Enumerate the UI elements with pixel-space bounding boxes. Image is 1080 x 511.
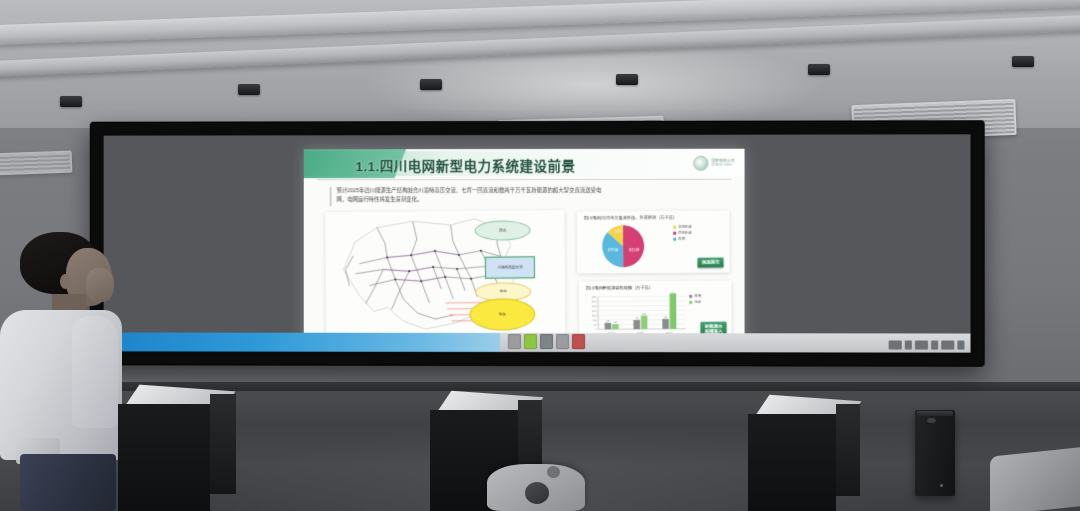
hvac-vent-icon xyxy=(0,151,72,176)
presenter-trousers xyxy=(20,454,116,511)
svg-text:800: 800 xyxy=(593,320,597,322)
tray-show-desktop-icon[interactable] xyxy=(957,341,964,350)
header-rule xyxy=(317,179,731,180)
floor-standing-speaker xyxy=(915,410,955,496)
ceiling-spot-icon xyxy=(60,96,82,107)
speaker-knob-icon xyxy=(927,418,936,423)
svg-text:6700: 6700 xyxy=(608,247,619,252)
svg-text:1200: 1200 xyxy=(614,228,624,233)
pedestal-front xyxy=(748,414,836,511)
legend-label: 负荷 xyxy=(678,236,685,242)
ceiling-spot-icon xyxy=(238,84,260,95)
lead-line-1: 预计2025年四川能源生产结构融合川渝特高压交流、七背一回直流和数两千万千瓦新能… xyxy=(337,187,727,197)
presenter-hand xyxy=(86,268,114,302)
logo-name-en: STATE GRID xyxy=(712,163,735,166)
svg-text:1150: 1150 xyxy=(642,313,646,315)
presenter-arm xyxy=(72,316,118,428)
legend-swatch-icon xyxy=(689,295,692,298)
tray-network-icon[interactable] xyxy=(889,340,902,349)
taskbar-app-1[interactable] xyxy=(508,334,521,349)
tray-clock-icon[interactable] xyxy=(941,341,954,350)
pie-chart-badge: 强直弱交 xyxy=(698,258,724,268)
bar-chart-legend: 风电 光伏 xyxy=(689,294,701,306)
display-panel[interactable]: 1.1.四川电网新型电力系统建设前景 国家电网公司 STATE GRID 预计2… xyxy=(104,134,971,352)
foreground-object-right xyxy=(990,447,1080,511)
callout-box-chongqing: 川渝特高压交流 xyxy=(485,256,535,278)
pedestal-front xyxy=(118,404,210,511)
taskbar-app-buttons[interactable] xyxy=(508,334,585,349)
tray-ime-icon[interactable] xyxy=(931,341,938,350)
ceiling-spot-icon xyxy=(1012,56,1034,67)
taskbar-app-5[interactable] xyxy=(572,334,585,349)
presenter-ear xyxy=(60,274,71,289)
speaker-top-cap xyxy=(917,411,953,416)
conference-room-photo: 1.1.四川电网新型电力系统建设前景 国家电网公司 STATE GRID 预计2… xyxy=(0,0,1080,511)
ceiling-spot-icon xyxy=(616,74,638,85)
svg-text:1200: 1200 xyxy=(592,315,598,317)
ceiling-spot-icon xyxy=(808,64,830,75)
pie-chart-card[interactable]: 四川电网2025年交直流外送、负荷预测（万千瓦） 1200 8100 6700 … xyxy=(577,210,730,273)
legend-swatch-icon xyxy=(673,226,676,229)
tray-volume-icon[interactable] xyxy=(905,340,912,349)
pie-chart-icon: 1200 8100 6700 xyxy=(593,223,653,269)
legend-swatch-icon xyxy=(689,301,692,304)
wall-display[interactable]: 1.1.四川电网新型电力系统建设前景 国家电网公司 STATE GRID 预计2… xyxy=(91,121,984,365)
svg-text:430: 430 xyxy=(614,322,617,324)
legend-label: 光伏 xyxy=(694,300,701,306)
ceiling xyxy=(0,0,1080,128)
taskbar-app-powerpoint[interactable] xyxy=(524,334,537,349)
gray-equipment-case xyxy=(487,464,585,511)
svg-text:0: 0 xyxy=(596,329,598,331)
state-grid-logo-icon xyxy=(694,156,709,171)
grid-map-card[interactable]: 西北 川渝特高压交流 华中 华东 xyxy=(325,210,565,338)
taskbar-app-4[interactable] xyxy=(556,334,569,349)
windows-taskbar[interactable] xyxy=(104,332,971,352)
pie-chart-title: 四川电网2025年交直流外送、负荷预测（万千瓦） xyxy=(584,215,677,222)
svg-text:560: 560 xyxy=(606,320,609,322)
svg-text:2800: 2800 xyxy=(592,297,598,299)
legend-swatch-icon xyxy=(673,238,676,241)
svg-text:860: 860 xyxy=(664,317,667,319)
legend-swatch-icon xyxy=(673,232,676,235)
svg-text:8100: 8100 xyxy=(629,247,640,252)
svg-text:2000: 2000 xyxy=(592,306,598,308)
system-tray[interactable] xyxy=(889,340,965,349)
pie-chart-legend: 交流外送 直流外送 负荷 xyxy=(673,225,692,243)
slide-lead-text: 预计2025年四川能源生产结构融合川渝特高压交流、七背一回直流和数两千万千瓦新能… xyxy=(330,187,727,206)
speaker-led-icon xyxy=(940,484,943,487)
case-handle-hole xyxy=(525,482,549,504)
bar-chart-icon: 0400 8001200 16002000 24002800 xyxy=(585,292,690,337)
powerpoint-window[interactable]: 1.1.四川电网新型电力系统建设前景 国家电网公司 STATE GRID 预计2… xyxy=(304,149,745,352)
legend-item: 光伏 xyxy=(689,300,701,306)
pedestal-side xyxy=(836,404,860,496)
ceiling-spot-icon xyxy=(420,79,442,90)
svg-text:3050: 3050 xyxy=(671,292,675,294)
svg-text:2400: 2400 xyxy=(592,301,598,303)
svg-text:1600: 1600 xyxy=(592,311,598,313)
tray-battery-icon[interactable] xyxy=(915,341,928,350)
state-grid-logo: 国家电网公司 STATE GRID xyxy=(694,156,735,171)
lead-line-2: 网，电网运行特性将发生深刻变化。 xyxy=(337,196,727,206)
state-grid-logo-text: 国家电网公司 STATE GRID xyxy=(712,160,735,167)
taskbar-accent xyxy=(104,332,500,351)
presentation-slide: 1.1.四川电网新型电力系统建设前景 国家电网公司 STATE GRID 预计2… xyxy=(304,149,745,352)
pedestal-left xyxy=(118,388,236,511)
slide-title: 1.1.四川电网新型电力系统建设前景 xyxy=(355,155,575,175)
case-secondary-hole xyxy=(547,466,560,478)
bar-chart-title: 四川电网新能源装机规模（万千瓦） xyxy=(586,285,653,291)
pedestal-side xyxy=(210,394,236,494)
pedestal-right xyxy=(748,398,860,511)
legend-item: 负荷 xyxy=(673,236,692,242)
taskbar-app-3[interactable] xyxy=(540,334,553,349)
svg-text:400: 400 xyxy=(593,325,597,327)
svg-text:780: 780 xyxy=(635,318,638,320)
